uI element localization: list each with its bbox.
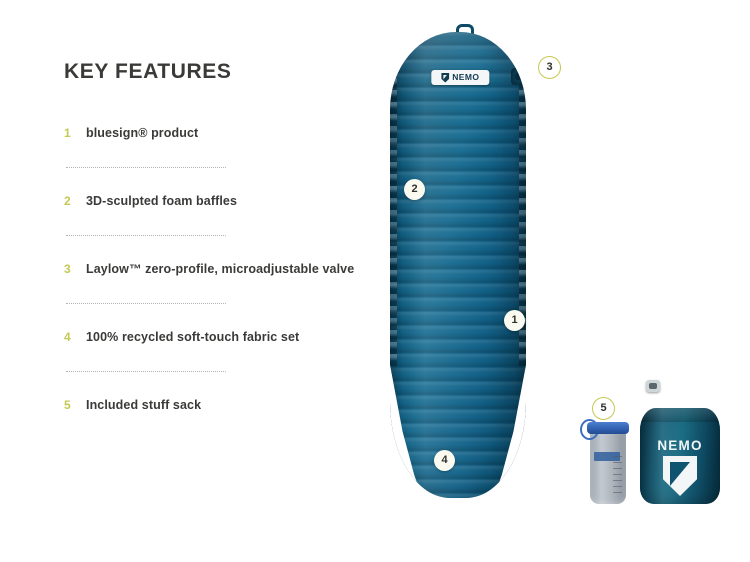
bottle-graduations [613,456,622,496]
feature-label: Laylow™ zero-profile, microadjustable va… [86,262,354,277]
list-item: 5 Included stuff sack [64,398,364,413]
list-divider [66,235,226,236]
feature-list: 1 bluesign® product 2 3D-sculpted foam b… [64,126,364,413]
list-divider [66,371,226,372]
sack-top-shading [640,408,720,422]
nemo-logo-patch: NEMO [431,70,489,85]
page-title: KEY FEATURES [64,60,364,84]
feature-label: 3D-sculpted foam baffles [86,194,237,209]
list-item: 3 Laylow™ zero-profile, microadjustable … [64,262,364,277]
list-item: 4 100% recycled soft-touch fabric set [64,330,364,345]
sleeping-pad-image: NEMO 3 2 1 4 [382,22,542,502]
pad-sheen [390,32,526,498]
stuff-sack-body: NEMO [640,408,720,504]
list-divider [66,167,226,168]
feature-label: bluesign® product [86,126,198,141]
callout-badge-baffles[interactable]: 2 [404,179,425,200]
valve-icon [511,68,526,85]
feature-label: 100% recycled soft-touch fabric set [86,330,299,345]
feature-label: Included stuff sack [86,398,201,413]
feature-number: 4 [64,331,86,343]
bottle-cap [587,422,629,434]
pad-body: NEMO [390,32,526,498]
list-item: 1 bluesign® product [64,126,364,141]
list-divider [66,303,226,304]
pad-head-highlight [390,32,526,96]
nemo-shield-icon [441,73,449,83]
feature-number: 5 [64,399,86,411]
key-features-panel: KEY FEATURES 1 bluesign® product 2 3D-sc… [64,60,364,413]
stuff-sack-image: 5 NEMO [578,386,728,516]
callout-badge-stuff-sack[interactable]: 5 [592,397,615,420]
water-bottle-scale-reference [590,430,626,504]
list-item: 2 3D-sculpted foam baffles [64,194,364,209]
feature-number: 1 [64,127,86,139]
feature-number: 2 [64,195,86,207]
callout-badge-fabric[interactable]: 4 [434,450,455,471]
nemo-wordmark: NEMO [452,73,479,82]
callout-badge-valve[interactable]: 3 [538,56,561,79]
sack-nemo-wordmark: NEMO [640,438,720,453]
feature-number: 3 [64,263,86,275]
callout-badge-bluesign[interactable]: 1 [504,310,525,331]
pad-edge-left [390,66,397,366]
sack-cinch-buckle-icon [646,380,660,392]
